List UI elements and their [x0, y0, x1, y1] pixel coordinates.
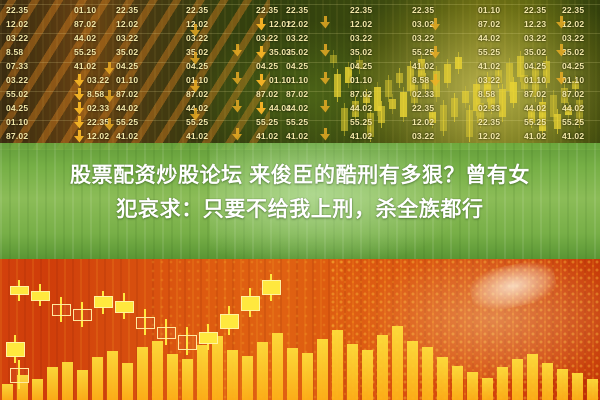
- candle-body-filled: [220, 314, 239, 329]
- arrow-down-icon: [232, 44, 243, 57]
- candle-body-hollow: [157, 327, 176, 339]
- arrow-down-icon: [556, 16, 567, 29]
- quote-column: 22.3512.0203.228.5807.3303.2255.0204.250…: [6, 0, 64, 150]
- quote-value: 55.25: [562, 115, 600, 129]
- volume-bar: [152, 341, 163, 400]
- headline-line-1: 股票配资炒股论坛 来俊臣的酷刑有多狠？曾有女: [6, 159, 594, 193]
- quote-value: 41.02: [562, 129, 600, 143]
- arrow-down-icon: [556, 44, 567, 57]
- arrow-down-icon: [190, 108, 201, 121]
- volume-bar: [452, 366, 463, 400]
- quote-value: 12.02: [350, 17, 408, 31]
- volume-bar: [92, 357, 103, 400]
- volume-bar: [62, 362, 73, 400]
- candle-body-filled: [241, 296, 260, 311]
- volume-bar: [197, 345, 208, 400]
- candle-body-filled: [262, 280, 281, 295]
- arrow-down-icon: [232, 100, 243, 113]
- quote-value: 55.25: [286, 115, 344, 129]
- quote-value: 44.02: [116, 101, 174, 115]
- headline-text: 股票配资炒股论坛 来俊臣的酷刑有多狠？曾有女 犯哀求：只要不给我上刑，杀全族都行: [0, 159, 600, 227]
- quote-value: 22.35: [562, 3, 600, 17]
- quote-value: 04.25: [116, 59, 174, 73]
- volume-bar: [272, 333, 283, 400]
- volume-bar: [392, 326, 403, 400]
- quote-value: 01.10: [350, 73, 408, 87]
- quote-value: 03.22: [6, 73, 64, 87]
- volume-bar: [437, 357, 448, 400]
- candle-body-filled: [10, 286, 29, 296]
- volume-bar: [107, 351, 118, 400]
- volume-bar: [137, 347, 148, 400]
- volume-bar: [557, 369, 568, 400]
- quote-value: 01.10: [116, 73, 174, 87]
- volume-bar: [227, 350, 238, 400]
- arrow-down-icon: [74, 116, 85, 129]
- quote-value: 8.58: [412, 73, 470, 87]
- volume-bar: [332, 330, 343, 400]
- arrow-down-icon: [232, 72, 243, 85]
- volume-bar: [122, 363, 133, 400]
- arrow-down-icon: [104, 118, 115, 131]
- quote-value: 12.02: [286, 17, 344, 31]
- volume-bar: [77, 370, 88, 400]
- volume-bar: [287, 348, 298, 400]
- quote-column: 22.3503.0203.2255.2541.028.5802.3322.351…: [412, 0, 470, 150]
- candle-body-hollow: [178, 335, 197, 350]
- arrow-down-icon: [190, 24, 201, 37]
- candle-body-filled: [94, 296, 113, 308]
- quote-value: 55.25: [412, 45, 470, 59]
- quote-value: 87.02: [562, 87, 600, 101]
- quote-value: 87.02: [6, 129, 64, 143]
- volume-bar: [572, 373, 583, 400]
- quote-value: 22.35: [186, 3, 244, 17]
- quote-value: 04.25: [6, 101, 64, 115]
- quote-value: 01.10: [6, 115, 64, 129]
- arrow-down-icon: [232, 128, 243, 141]
- quote-value: 44.02: [286, 101, 344, 115]
- quote-value: 35.02: [562, 45, 600, 59]
- quote-column: 22.3512.0203.2235.0204.2501.1087.0244.02…: [562, 0, 600, 150]
- candle-body-filled: [31, 291, 50, 301]
- quote-value: 03.22: [350, 31, 408, 45]
- quote-column: 22.3512.0203.2235.0204.2501.1087.0244.02…: [116, 0, 174, 150]
- arrow-down-icon: [320, 72, 331, 85]
- headline-line-2: 犯哀求：只要不给我上刑，杀全族都行: [6, 193, 594, 227]
- volume-bar: [587, 379, 598, 400]
- quote-value: 55.25: [116, 115, 174, 129]
- volume-bar: [407, 341, 418, 400]
- arrow-down-icon: [190, 52, 201, 65]
- quote-value: 35.02: [350, 45, 408, 59]
- volume-bar: [467, 372, 478, 400]
- quote-value: 22.35: [286, 3, 344, 17]
- arrow-down-icon: [256, 102, 267, 115]
- quote-value: 87.02: [286, 87, 344, 101]
- quote-value: 8.58: [6, 45, 64, 59]
- quote-value: 04.25: [286, 59, 344, 73]
- volume-bar: [302, 353, 313, 400]
- quote-value: 12.02: [412, 115, 470, 129]
- arrow-down-icon: [256, 74, 267, 87]
- quote-value: 03.22: [412, 129, 470, 143]
- quote-value: 12.02: [6, 17, 64, 31]
- quote-value: 12.02: [116, 17, 174, 31]
- quote-value: 03.22: [562, 31, 600, 45]
- quote-value: 03.22: [286, 31, 344, 45]
- volume-bar: [347, 344, 358, 400]
- volume-bar: [527, 354, 538, 400]
- candle-body-filled: [199, 332, 218, 344]
- volume-bar: [167, 354, 178, 400]
- arrow-down-icon: [190, 80, 201, 93]
- arrow-down-icon: [320, 44, 331, 57]
- quote-value: 03.22: [412, 31, 470, 45]
- quote-column: 22.3512.0203.2235.0204.2501.1087.0244.02…: [286, 0, 344, 150]
- arrow-down-icon: [320, 128, 331, 141]
- quote-value: 55.02: [6, 87, 64, 101]
- quote-value: 01.10: [562, 73, 600, 87]
- quote-value: 44.02: [562, 101, 600, 115]
- arrow-down-icon: [320, 16, 331, 29]
- volume-bar: [2, 384, 13, 400]
- arrow-down-icon: [74, 130, 85, 143]
- quote-value: 04.25: [562, 59, 600, 73]
- volume-bar: [542, 363, 553, 400]
- quote-value: 03.22: [116, 31, 174, 45]
- volume-bar: [242, 356, 253, 400]
- quote-value: 04.25: [350, 59, 408, 73]
- arrow-down-icon: [74, 88, 85, 101]
- volume-bar: [317, 339, 328, 400]
- quote-value: 22.35: [6, 3, 64, 17]
- quote-value: 35.02: [286, 45, 344, 59]
- volume-bar: [482, 378, 493, 400]
- candle-body-hollow: [73, 309, 92, 321]
- arrow-down-icon: [430, 74, 441, 87]
- volume-bar: [257, 342, 268, 400]
- volume-bar: [512, 359, 523, 400]
- candle-body-filled: [6, 342, 25, 357]
- arrow-down-icon: [430, 46, 441, 59]
- volume-bar: [422, 347, 433, 400]
- quote-value: 07.33: [6, 59, 64, 73]
- headline-band: 股票配资炒股论坛 来俊臣的酷刑有多狠？曾有女 犯哀求：只要不给我上刑，杀全族都行: [0, 143, 600, 259]
- quote-column: 22.3512.0203.2235.0204.2501.1087.0244.02…: [350, 0, 408, 150]
- arrow-down-icon: [74, 74, 85, 87]
- arrow-down-icon: [556, 72, 567, 85]
- quote-value: 22.35: [412, 3, 470, 17]
- quote-value: 03.22: [6, 31, 64, 45]
- candle-body-filled: [115, 301, 134, 313]
- arrow-down-icon: [104, 62, 115, 75]
- quote-value: 41.02: [116, 129, 174, 143]
- quote-value: 87.02: [350, 87, 408, 101]
- quote-value: 55.25: [350, 115, 408, 129]
- candle-body-hollow: [52, 304, 71, 316]
- volume-bar: [377, 335, 388, 400]
- candle-body-hollow: [136, 317, 155, 329]
- volume-bar: [497, 367, 508, 400]
- quote-grid-section: 22.3512.0203.228.5807.3303.2255.0204.250…: [0, 0, 600, 150]
- candle-body-hollow: [10, 368, 29, 383]
- arrow-down-icon: [74, 102, 85, 115]
- quote-value: 22.35: [412, 101, 470, 115]
- quote-value: 44.02: [350, 101, 408, 115]
- arrow-down-icon: [104, 90, 115, 103]
- volume-bar: [362, 350, 373, 400]
- volume-bar: [212, 336, 223, 400]
- volume-bar: [182, 359, 193, 400]
- quote-value: 41.02: [412, 59, 470, 73]
- quote-value: 22.35: [350, 3, 408, 17]
- banner-image: 22.3512.0203.228.5807.3303.2255.0204.250…: [0, 0, 600, 400]
- volume-bar: [47, 367, 58, 400]
- volume-bar: [32, 379, 43, 400]
- quote-value: 41.02: [286, 129, 344, 143]
- quote-value: 12.02: [562, 17, 600, 31]
- quote-value: 35.02: [116, 45, 174, 59]
- quote-value: 22.35: [116, 3, 174, 17]
- quote-value: 01.10: [286, 73, 344, 87]
- arrow-down-icon: [430, 18, 441, 31]
- quote-value: 02.33: [412, 87, 470, 101]
- arrow-down-icon: [320, 100, 331, 113]
- quote-value: 41.02: [350, 129, 408, 143]
- stock-chart-section: [0, 259, 600, 400]
- quote-value: 03.02: [412, 17, 470, 31]
- arrow-down-icon: [256, 18, 267, 31]
- quote-value: 87.02: [116, 87, 174, 101]
- arrow-down-icon: [256, 46, 267, 59]
